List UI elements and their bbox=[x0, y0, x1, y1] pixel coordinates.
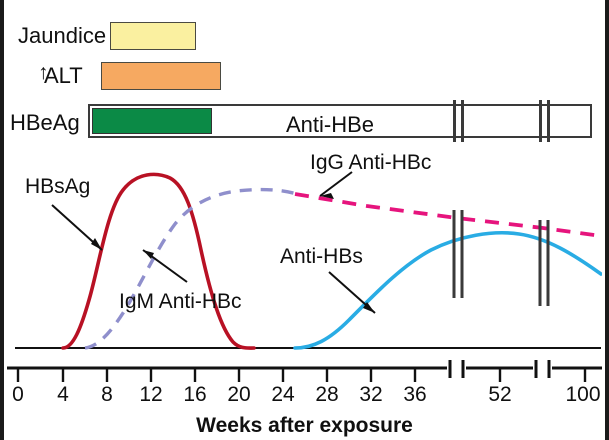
x-axis-ticks bbox=[18, 368, 585, 382]
bar-break-mark-1b bbox=[461, 100, 464, 142]
x-tick-label-32: 32 bbox=[359, 383, 382, 407]
x-axis-svg bbox=[0, 360, 609, 390]
x-tick-label-100: 100 bbox=[565, 383, 600, 407]
x-tick-label-0: 0 bbox=[12, 383, 24, 407]
alt-label: ALT bbox=[44, 65, 83, 87]
x-tick-label-28: 28 bbox=[315, 383, 338, 407]
igm-anti-hbc-curve-label: IgM Anti-HBc bbox=[119, 291, 242, 312]
x-tick-label-12: 12 bbox=[139, 383, 162, 407]
x-tick-label-24: 24 bbox=[271, 383, 294, 407]
hbsag-curve-label: HBsAg bbox=[25, 176, 90, 197]
hbeag-bar bbox=[92, 108, 212, 134]
hbeag-label: HBeAg bbox=[10, 112, 80, 134]
x-tick-label-16: 16 bbox=[183, 383, 206, 407]
jaundice-label: Jaundice bbox=[18, 25, 106, 47]
x-axis-title: Weeks after exposure bbox=[0, 414, 609, 438]
serology-plot-area: HBsAg IgM Anti-HBc IgG Anti-HBc Anti-HBs bbox=[7, 150, 602, 370]
bar-break-mark-1a bbox=[453, 100, 456, 142]
bar-break-mark-2b bbox=[547, 100, 550, 142]
x-tick-label-4: 4 bbox=[57, 383, 69, 407]
igg-anti-hbc-curve bbox=[295, 194, 601, 236]
hepatitis-b-serology-figure: Jaundice ↑ ALT HBeAg Anti-HBe bbox=[0, 0, 609, 440]
x-tick-label-20: 20 bbox=[227, 383, 250, 407]
igg-anti-hbc-curve-label: IgG Anti-HBc bbox=[310, 152, 431, 173]
x-tick-label-52: 52 bbox=[488, 383, 511, 407]
plot-break-marks bbox=[454, 210, 548, 306]
anti-hbe-label: Anti-HBe bbox=[286, 112, 374, 138]
x-tick-label-8: 8 bbox=[101, 383, 113, 407]
alt-bar bbox=[101, 62, 221, 90]
bar-break-mark-2a bbox=[539, 100, 542, 142]
jaundice-bar bbox=[110, 22, 196, 50]
x-tick-label-36: 36 bbox=[403, 383, 426, 407]
anti-hbs-curve-label: Anti-HBs bbox=[280, 246, 363, 267]
